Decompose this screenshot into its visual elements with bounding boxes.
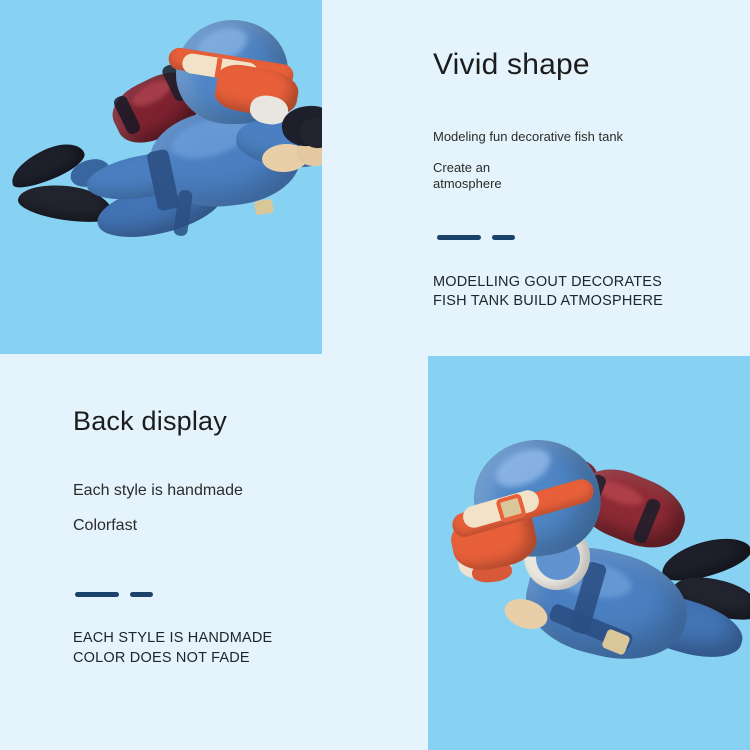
divider-dash-short [492, 235, 515, 240]
section-title: Back display [73, 407, 403, 437]
feature-subtitle: Colorfast [73, 517, 403, 536]
feature-text-back-display: Back display Each style is handmade Colo… [73, 407, 403, 668]
feature-subtitle: Create an atmosphere [433, 160, 541, 191]
product-feature-page: Vivid shape Modeling fun decorative fish… [0, 0, 750, 750]
feature-caption-line: MODELLING GOUT DECORATES [433, 273, 733, 292]
feature-subtitle-list: Each style is handmade Colorfast [73, 482, 403, 536]
belt-buckle [254, 199, 274, 216]
product-photo-front[interactable] [0, 0, 322, 354]
feature-caption-line: COLOR DOES NOT FADE [73, 649, 403, 668]
feature-caption: MODELLING GOUT DECORATES FISH TANK BUILD… [433, 273, 733, 311]
page-title: Vivid shape [433, 48, 733, 81]
feature-subtitle: Modeling fun decorative fish tank [433, 129, 733, 144]
divider-dash-long [75, 592, 119, 597]
divider-dash-long [437, 235, 481, 240]
feature-subtitle: Each style is handmade [73, 482, 403, 501]
feature-subtitle-list: Modeling fun decorative fish tank Create… [433, 129, 733, 191]
divider [437, 235, 733, 240]
feature-caption-line: EACH STYLE IS HANDMADE [73, 629, 403, 648]
divider [75, 592, 403, 597]
feature-text-vivid-shape: Vivid shape Modeling fun decorative fish… [433, 48, 733, 311]
product-photo-back[interactable] [428, 356, 750, 750]
diver-figurine-front-illustration [0, 0, 322, 354]
feature-caption: EACH STYLE IS HANDMADE COLOR DOES NOT FA… [73, 629, 403, 667]
divider-dash-short [130, 592, 153, 597]
diver-figurine-back-illustration [428, 356, 750, 750]
feature-caption-line: FISH TANK BUILD ATMOSPHERE [433, 292, 733, 311]
